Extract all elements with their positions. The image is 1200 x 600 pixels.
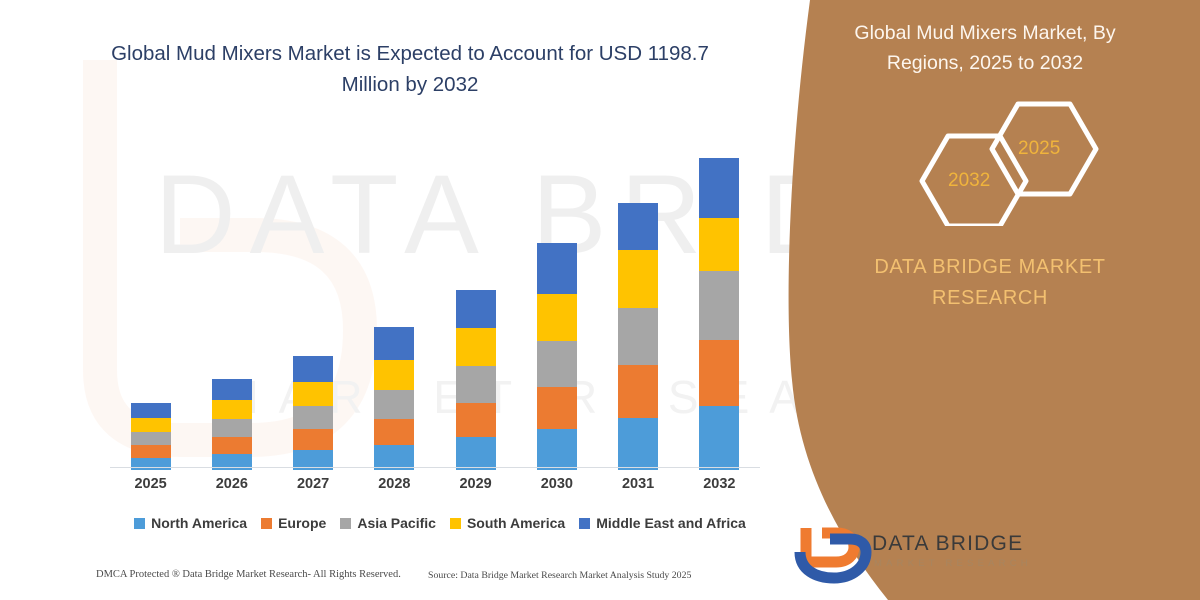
- bar-segment: [374, 419, 414, 445]
- bar-2027: [293, 356, 333, 470]
- infographic-root: DATA BRIDGE MARKET RESEARCH Global Mud M…: [0, 0, 1200, 600]
- bar-2026: [212, 379, 252, 470]
- x-tick-2028: 2028: [359, 476, 429, 492]
- bar-segment: [699, 218, 739, 271]
- hex-badge-2025: 2025: [1018, 138, 1060, 160]
- legend-label: Asia Pacific: [357, 515, 436, 531]
- legend-label: Middle East and Africa: [596, 515, 746, 531]
- right-panel-content: Global Mud Mixers Market, By Regions, 20…: [780, 0, 1200, 600]
- bar-segment: [618, 308, 658, 365]
- bar-segment: [212, 379, 252, 400]
- bar-2025: [131, 403, 171, 470]
- bar-segment: [699, 406, 739, 470]
- bar-segment: [212, 419, 252, 437]
- footer-source: Source: Data Bridge Market Research Mark…: [428, 570, 691, 581]
- bar-segment: [131, 403, 171, 418]
- x-tick-2031: 2031: [603, 476, 673, 492]
- brand-line-2: RESEARCH: [932, 287, 1048, 309]
- logo-tagline: MARKET RESEARCH: [874, 558, 1032, 569]
- chart-legend: North AmericaEuropeAsia PacificSouth Ame…: [110, 512, 770, 534]
- bar-segment: [618, 418, 658, 470]
- bar-segment: [537, 387, 577, 429]
- bar-segment: [618, 250, 658, 308]
- x-tick-2026: 2026: [197, 476, 267, 492]
- bar-segment: [212, 400, 252, 419]
- bar-2031: [618, 203, 658, 470]
- bar-segment: [699, 271, 739, 340]
- stacked-bar-chart: [110, 120, 760, 470]
- bar-segment: [374, 360, 414, 390]
- legend-label: South America: [467, 515, 565, 531]
- x-tick-2027: 2027: [278, 476, 348, 492]
- bar-segment: [293, 429, 333, 450]
- bar-segment: [131, 445, 171, 458]
- bar-segment: [293, 406, 333, 429]
- legend-item-asia-pacific[interactable]: Asia Pacific: [340, 515, 436, 531]
- bar-segment: [456, 366, 496, 403]
- bar-segment: [131, 458, 171, 470]
- bar-segment: [537, 294, 577, 341]
- bar-segment: [293, 356, 333, 382]
- x-axis-labels: 20252026202720282029203020312032: [110, 476, 760, 500]
- bar-segment: [699, 340, 739, 406]
- bar-segment: [618, 203, 658, 250]
- legend-swatch-icon: [450, 518, 461, 529]
- legend-swatch-icon: [579, 518, 590, 529]
- bar-segment: [131, 432, 171, 445]
- bar-segment: [537, 429, 577, 470]
- legend-item-europe[interactable]: Europe: [261, 515, 326, 531]
- brand-name-text: DATA BRIDGE MARKET RESEARCH: [825, 252, 1155, 314]
- logo-wordmark: DATA BRIDGE: [872, 532, 1023, 556]
- legend-swatch-icon: [261, 518, 272, 529]
- bar-segment: [618, 365, 658, 418]
- hexagon-badges: 2025 2032: [910, 96, 1130, 226]
- x-tick-2030: 2030: [522, 476, 592, 492]
- bar-2029: [456, 290, 496, 470]
- page-title: Global Mud Mixers Market is Expected to …: [110, 38, 710, 100]
- bar-segment: [374, 327, 414, 360]
- legend-label: Europe: [278, 515, 326, 531]
- bar-segment: [699, 158, 739, 218]
- bar-segment: [131, 418, 171, 432]
- bar-2028: [374, 327, 414, 470]
- bar-segment: [456, 437, 496, 470]
- legend-swatch-icon: [340, 518, 351, 529]
- x-axis-line: [110, 467, 760, 468]
- footer-copyright: DMCA Protected ® Data Bridge Market Rese…: [96, 569, 401, 580]
- x-tick-2032: 2032: [684, 476, 754, 492]
- bar-segment: [537, 243, 577, 294]
- legend-item-north-america[interactable]: North America: [134, 515, 247, 531]
- bar-segment: [456, 290, 496, 328]
- hex-badge-2032: 2032: [948, 170, 990, 192]
- panel-title: Global Mud Mixers Market, By Regions, 20…: [820, 18, 1150, 78]
- bar-segment: [456, 328, 496, 366]
- bar-segment: [212, 437, 252, 454]
- brand-line-1: DATA BRIDGE MARKET: [874, 256, 1105, 278]
- legend-label: North America: [151, 515, 247, 531]
- legend-item-middle-east-and-africa[interactable]: Middle East and Africa: [579, 515, 746, 531]
- bar-segment: [456, 403, 496, 437]
- legend-swatch-icon: [134, 518, 145, 529]
- x-tick-2029: 2029: [441, 476, 511, 492]
- x-tick-2025: 2025: [116, 476, 186, 492]
- legend-item-south-america[interactable]: South America: [450, 515, 565, 531]
- bar-2030: [537, 243, 577, 470]
- bar-segment: [374, 390, 414, 419]
- bar-2032: [699, 158, 739, 470]
- bar-segment: [537, 341, 577, 387]
- bar-segment: [293, 382, 333, 406]
